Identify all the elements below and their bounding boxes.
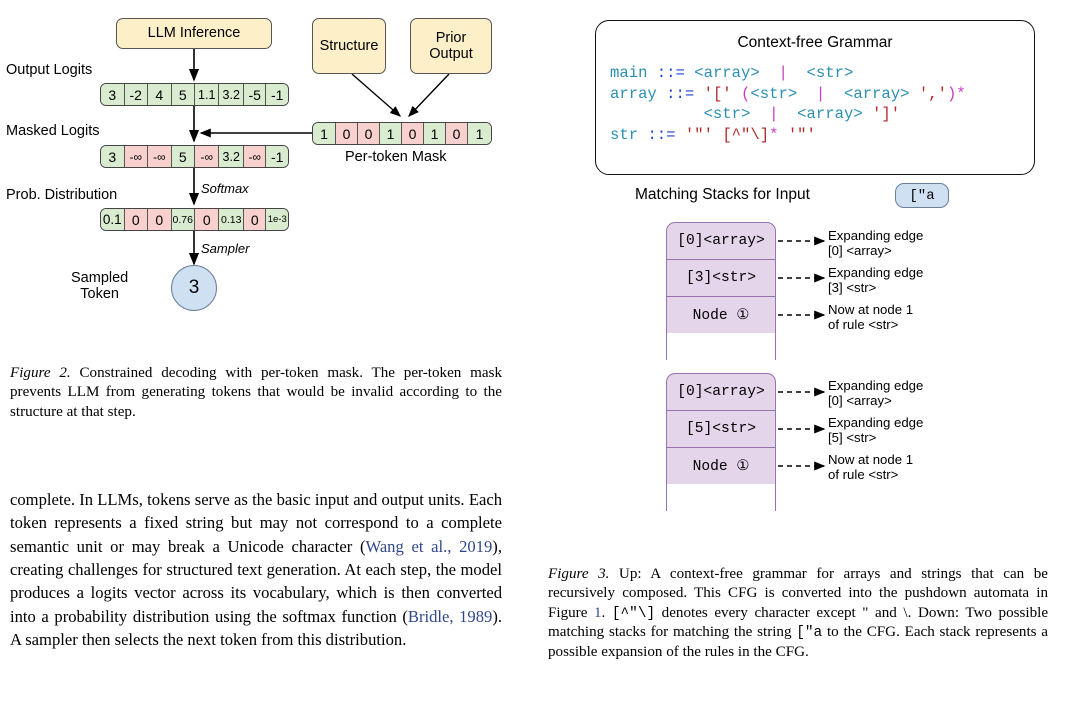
figure-3-caption: Figure 3. Up: A context-free grammar for…	[548, 565, 1048, 662]
stack-2-row-3: Node ①	[666, 447, 776, 485]
per-token-mask-cell: 0	[446, 123, 468, 144]
stack-1-annotation-3: Now at node 1 of rule <str>	[828, 302, 913, 333]
grammar-line: str ::= '"' [^"\]* '"'	[610, 125, 966, 146]
per-token-mask-cell: 0	[336, 123, 358, 144]
masked-logits-cell: -∞	[125, 146, 149, 167]
grammar-line: <str> | <array> ']'	[610, 104, 966, 125]
figure-2-caption: Figure 2. Constrained decoding with per-…	[10, 364, 502, 422]
prior-output-label: Prior Output	[429, 30, 473, 62]
output-logits-cell: 1.1	[195, 84, 219, 105]
stack-2-row-empty	[666, 484, 776, 511]
figure-1-reference[interactable]: 1	[594, 605, 602, 621]
matching-stack-1: [0]<array> [3]<str> Node ①	[666, 222, 776, 360]
citation-wang-2019[interactable]: Wang et al., 2019	[365, 537, 492, 556]
masked-logits-cell: 3.2	[219, 146, 243, 167]
prob-distribution-cell: 0.13	[219, 209, 243, 230]
per-token-mask-vector: 10010101	[312, 122, 492, 145]
sampled-token-value: 3	[189, 277, 200, 299]
paper-page: LLM Inference Structure Prior Output Out…	[0, 0, 1080, 718]
masked-logits-label: Masked Logits	[6, 124, 100, 140]
llm-inference-label: LLM Inference	[148, 25, 241, 41]
figure-3-caption-label: Figure 3.	[548, 566, 609, 582]
prob-distribution-cell: 1e-3	[266, 209, 288, 230]
per-token-mask-cell: 1	[380, 123, 402, 144]
output-logits-cell: -1	[266, 84, 288, 105]
figure-3-caption-b: .	[602, 605, 612, 621]
stack-1-row-2: [3]<str>	[666, 259, 776, 297]
stack-2-annotation-1: Expanding edge [0] <array>	[828, 378, 923, 409]
per-token-mask-cell: 1	[424, 123, 446, 144]
prob-distribution-label: Prob. Distribution	[6, 188, 117, 204]
output-logits-cell: 5	[172, 84, 196, 105]
prob-distribution-cell: 0.76	[172, 209, 196, 230]
per-token-mask-cell: 1	[468, 123, 491, 144]
figure-2-caption-label: Figure 2.	[10, 365, 71, 381]
stack-1-row-1: [0]<array>	[666, 222, 776, 260]
softmax-label: Softmax	[201, 181, 249, 196]
prob-distribution-cell: 0	[125, 209, 149, 230]
output-logits-cell: -2	[125, 84, 149, 105]
matching-stack-2: [0]<array> [5]<str> Node ①	[666, 373, 776, 511]
prior-output-box: Prior Output	[410, 18, 492, 74]
stack-2-annotation-3: Now at node 1 of rule <str>	[828, 452, 913, 483]
figure-3: Context-free Grammar main ::= <array> | …	[540, 0, 1080, 545]
per-token-mask-cell: 0	[358, 123, 380, 144]
per-token-mask-cell: 1	[313, 123, 336, 144]
figure-2-caption-text: Constrained decoding with per-token mask…	[10, 365, 502, 420]
stack-2-row-1: [0]<array>	[666, 373, 776, 411]
figure-3-caption-mono-2: ["a	[796, 625, 822, 641]
stack-2-row-2: [5]<str>	[666, 410, 776, 448]
sampler-label: Sampler	[201, 241, 249, 256]
context-free-grammar-box: Context-free Grammar main ::= <array> | …	[595, 20, 1035, 175]
prob-distribution-cell: 0	[195, 209, 219, 230]
masked-logits-cell: 5	[172, 146, 196, 167]
output-logits-label: Output Logits	[6, 63, 92, 79]
body-paragraph: complete. In LLMs, tokens serve as the b…	[10, 488, 502, 651]
stack-1-annotation-2: Expanding edge [3] <str>	[828, 265, 923, 296]
citation-bridle-1989[interactable]: Bridle, 1989	[408, 607, 492, 626]
grammar-line: array ::= '[' (<str> | <array> ',')*	[610, 84, 966, 105]
structure-box: Structure	[312, 18, 386, 74]
output-logits-vector: 3-2451.13.2-5-1	[100, 83, 289, 106]
cfg-title: Context-free Grammar	[596, 34, 1034, 52]
matching-stacks-title: Matching Stacks for Input	[635, 186, 810, 204]
llm-inference-box: LLM Inference	[116, 18, 272, 49]
prob-distribution-cell: 0.1	[101, 209, 125, 230]
sampled-token-label: Sampled Token	[71, 271, 128, 303]
output-logits-cell: 3.2	[219, 84, 243, 105]
figure-3-caption-mono-1: [^"\]	[612, 606, 655, 622]
output-logits-cell: 4	[148, 84, 172, 105]
stack-1-annotation-1: Expanding edge [0] <array>	[828, 228, 923, 259]
structure-label: Structure	[320, 38, 379, 54]
masked-logits-vector: 3-∞-∞5-∞3.2-∞-1	[100, 145, 289, 168]
masked-logits-cell: -1	[266, 146, 288, 167]
masked-logits-cell: -∞	[148, 146, 172, 167]
figure-2: LLM Inference Structure Prior Output Out…	[0, 0, 540, 352]
per-token-mask-label: Per-token Mask	[345, 150, 447, 166]
masked-logits-cell: -∞	[244, 146, 267, 167]
masked-logits-cell: 3	[101, 146, 125, 167]
per-token-mask-cell: 0	[402, 123, 424, 144]
output-logits-cell: -5	[244, 84, 267, 105]
stack-1-row-3: Node ①	[666, 296, 776, 334]
output-logits-cell: 3	[101, 84, 125, 105]
grammar-line: main ::= <array> | <str>	[610, 63, 966, 84]
stack-2-annotation-2: Expanding edge [5] <str>	[828, 415, 923, 446]
masked-logits-cell: -∞	[195, 146, 219, 167]
stack-1-row-empty	[666, 333, 776, 360]
prob-distribution-cell: 0	[244, 209, 267, 230]
input-badge: ["a	[895, 183, 949, 208]
prob-distribution-cell: 0	[148, 209, 172, 230]
sampled-token-circle: 3	[171, 265, 217, 311]
prob-distribution-vector: 0.1000.7600.1301e-3	[100, 208, 289, 231]
grammar-rules: main ::= <array> | <str>array ::= '[' (<…	[610, 63, 966, 146]
